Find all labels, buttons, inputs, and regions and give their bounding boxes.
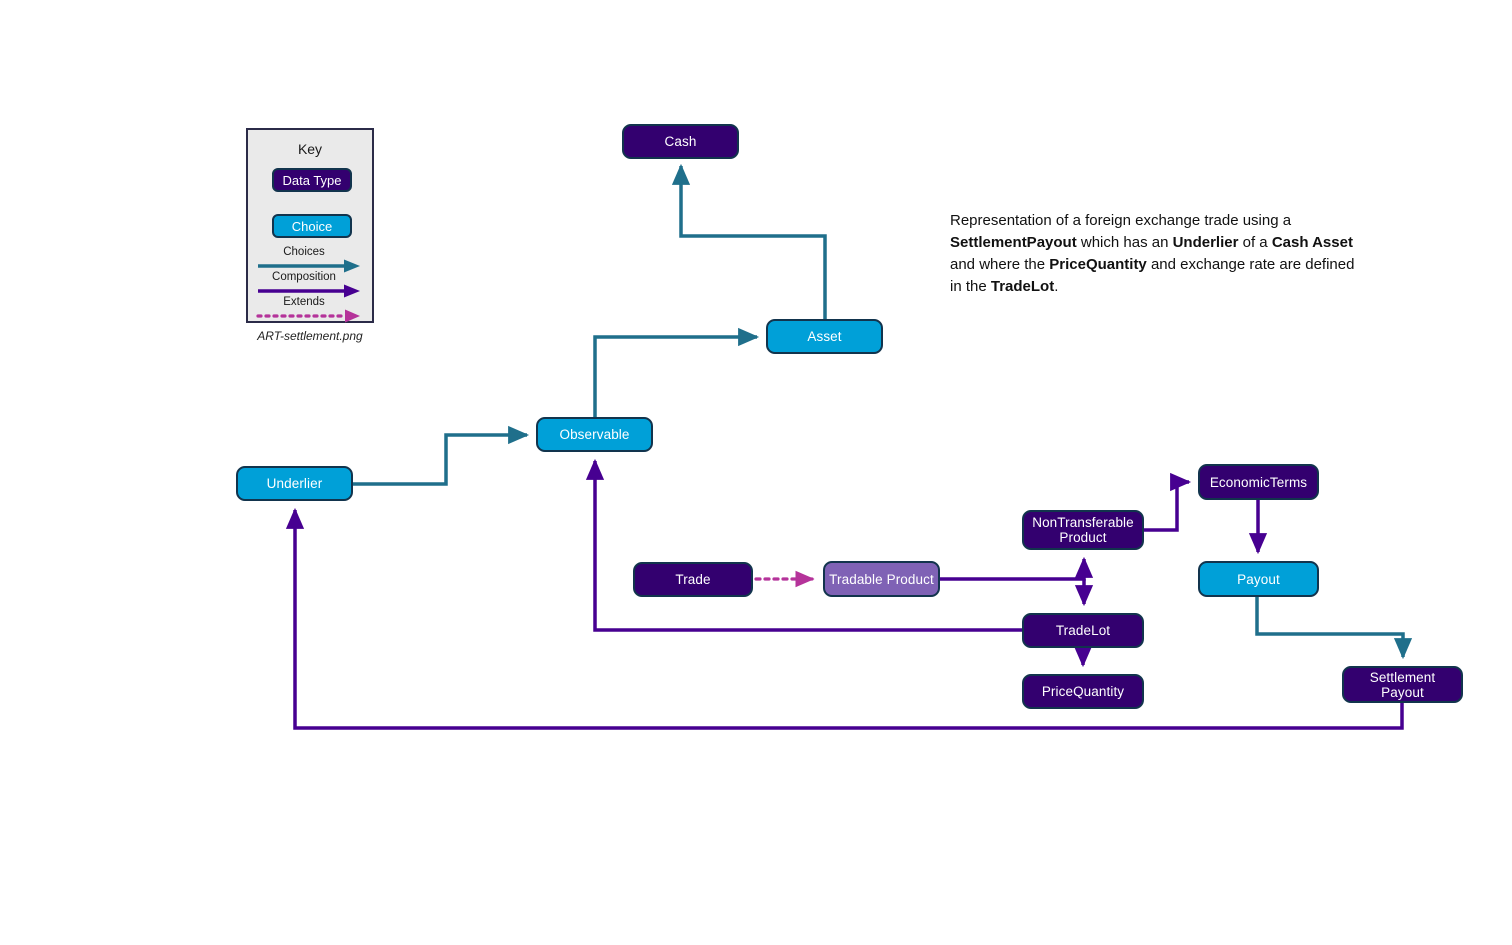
node-observable[interactable]: Observable bbox=[536, 417, 653, 452]
legend-title: Key bbox=[248, 141, 372, 157]
edge-settlement-payout-to-underlier bbox=[295, 510, 1402, 728]
edge-observable-to-asset bbox=[595, 337, 757, 417]
node-tradelot[interactable]: TradeLot bbox=[1022, 613, 1144, 648]
edge-underlier-to-observable bbox=[353, 435, 527, 484]
description-seg-0: Representation of a foreign exchange tra… bbox=[950, 212, 1291, 229]
diagram-description: Representation of a foreign exchange tra… bbox=[950, 210, 1370, 298]
node-trade[interactable]: Trade bbox=[633, 562, 753, 597]
node-observable-label: Observable bbox=[559, 427, 629, 442]
node-settlement-payout-label: Settlement Payout bbox=[1348, 670, 1457, 700]
node-economic-terms[interactable]: EconomicTerms bbox=[1198, 464, 1319, 500]
description-seg-3: and where the bbox=[950, 256, 1049, 273]
legend-choice-chip: Choice bbox=[272, 214, 352, 238]
description-seg-5: . bbox=[1054, 278, 1058, 295]
node-settlement-payout[interactable]: Settlement Payout bbox=[1342, 666, 1463, 703]
legend-choice-label: Choice bbox=[292, 219, 332, 234]
edge-nontransferable-to-economic-terms bbox=[1144, 482, 1189, 530]
legend-choices-label: Choices bbox=[248, 246, 360, 258]
legend-composition-label: Composition bbox=[248, 271, 360, 283]
node-cash[interactable]: Cash bbox=[622, 124, 739, 159]
node-payout-label: Payout bbox=[1237, 572, 1280, 587]
node-asset-label: Asset bbox=[807, 329, 841, 344]
node-payout[interactable]: Payout bbox=[1198, 561, 1319, 597]
description-seg-2: of a bbox=[1238, 234, 1271, 251]
legend-extends-arrow-icon bbox=[248, 309, 376, 331]
description-bold-cash-asset: Cash Asset bbox=[1272, 234, 1353, 251]
node-tradelot-label: TradeLot bbox=[1056, 623, 1110, 638]
description-bold-tradelot: TradeLot bbox=[991, 278, 1054, 295]
legend-extends-label: Extends bbox=[248, 296, 360, 308]
node-asset[interactable]: Asset bbox=[766, 319, 883, 354]
node-nontransferable-product[interactable]: NonTransferable Product bbox=[1022, 510, 1144, 550]
diagram-canvas: Cash Asset Observable Underlier Economic… bbox=[0, 0, 1512, 945]
edge-asset-to-cash bbox=[681, 166, 825, 319]
node-underlier-label: Underlier bbox=[267, 476, 323, 491]
legend-caption: ART-settlement.png bbox=[246, 329, 374, 343]
legend-panel: Key Data Type Choice Choices Composition… bbox=[246, 128, 374, 323]
legend-data-type-label: Data Type bbox=[282, 173, 341, 188]
description-bold-pricequantity: PriceQuantity bbox=[1049, 256, 1147, 273]
edge-tradelot-to-observable bbox=[595, 461, 1022, 630]
node-pricequantity-label: PriceQuantity bbox=[1042, 684, 1124, 699]
node-tradable-product[interactable]: Tradable Product bbox=[823, 561, 940, 597]
node-underlier[interactable]: Underlier bbox=[236, 466, 353, 501]
legend-data-type-chip: Data Type bbox=[272, 168, 352, 192]
node-tradable-product-label: Tradable Product bbox=[829, 572, 934, 587]
node-pricequantity[interactable]: PriceQuantity bbox=[1022, 674, 1144, 709]
description-bold-underlier: Underlier bbox=[1173, 234, 1239, 251]
node-economic-terms-label: EconomicTerms bbox=[1210, 475, 1307, 490]
node-trade-label: Trade bbox=[675, 572, 710, 587]
edge-payout-to-settlement-payout bbox=[1257, 597, 1403, 657]
description-bold-settlementpayout: SettlementPayout bbox=[950, 234, 1077, 251]
description-seg-1: which has an bbox=[1077, 234, 1173, 251]
node-cash-label: Cash bbox=[665, 134, 697, 149]
node-nontransferable-product-label: NonTransferable Product bbox=[1028, 515, 1138, 545]
edge-tradable-product-to-nontransferable bbox=[940, 559, 1084, 579]
